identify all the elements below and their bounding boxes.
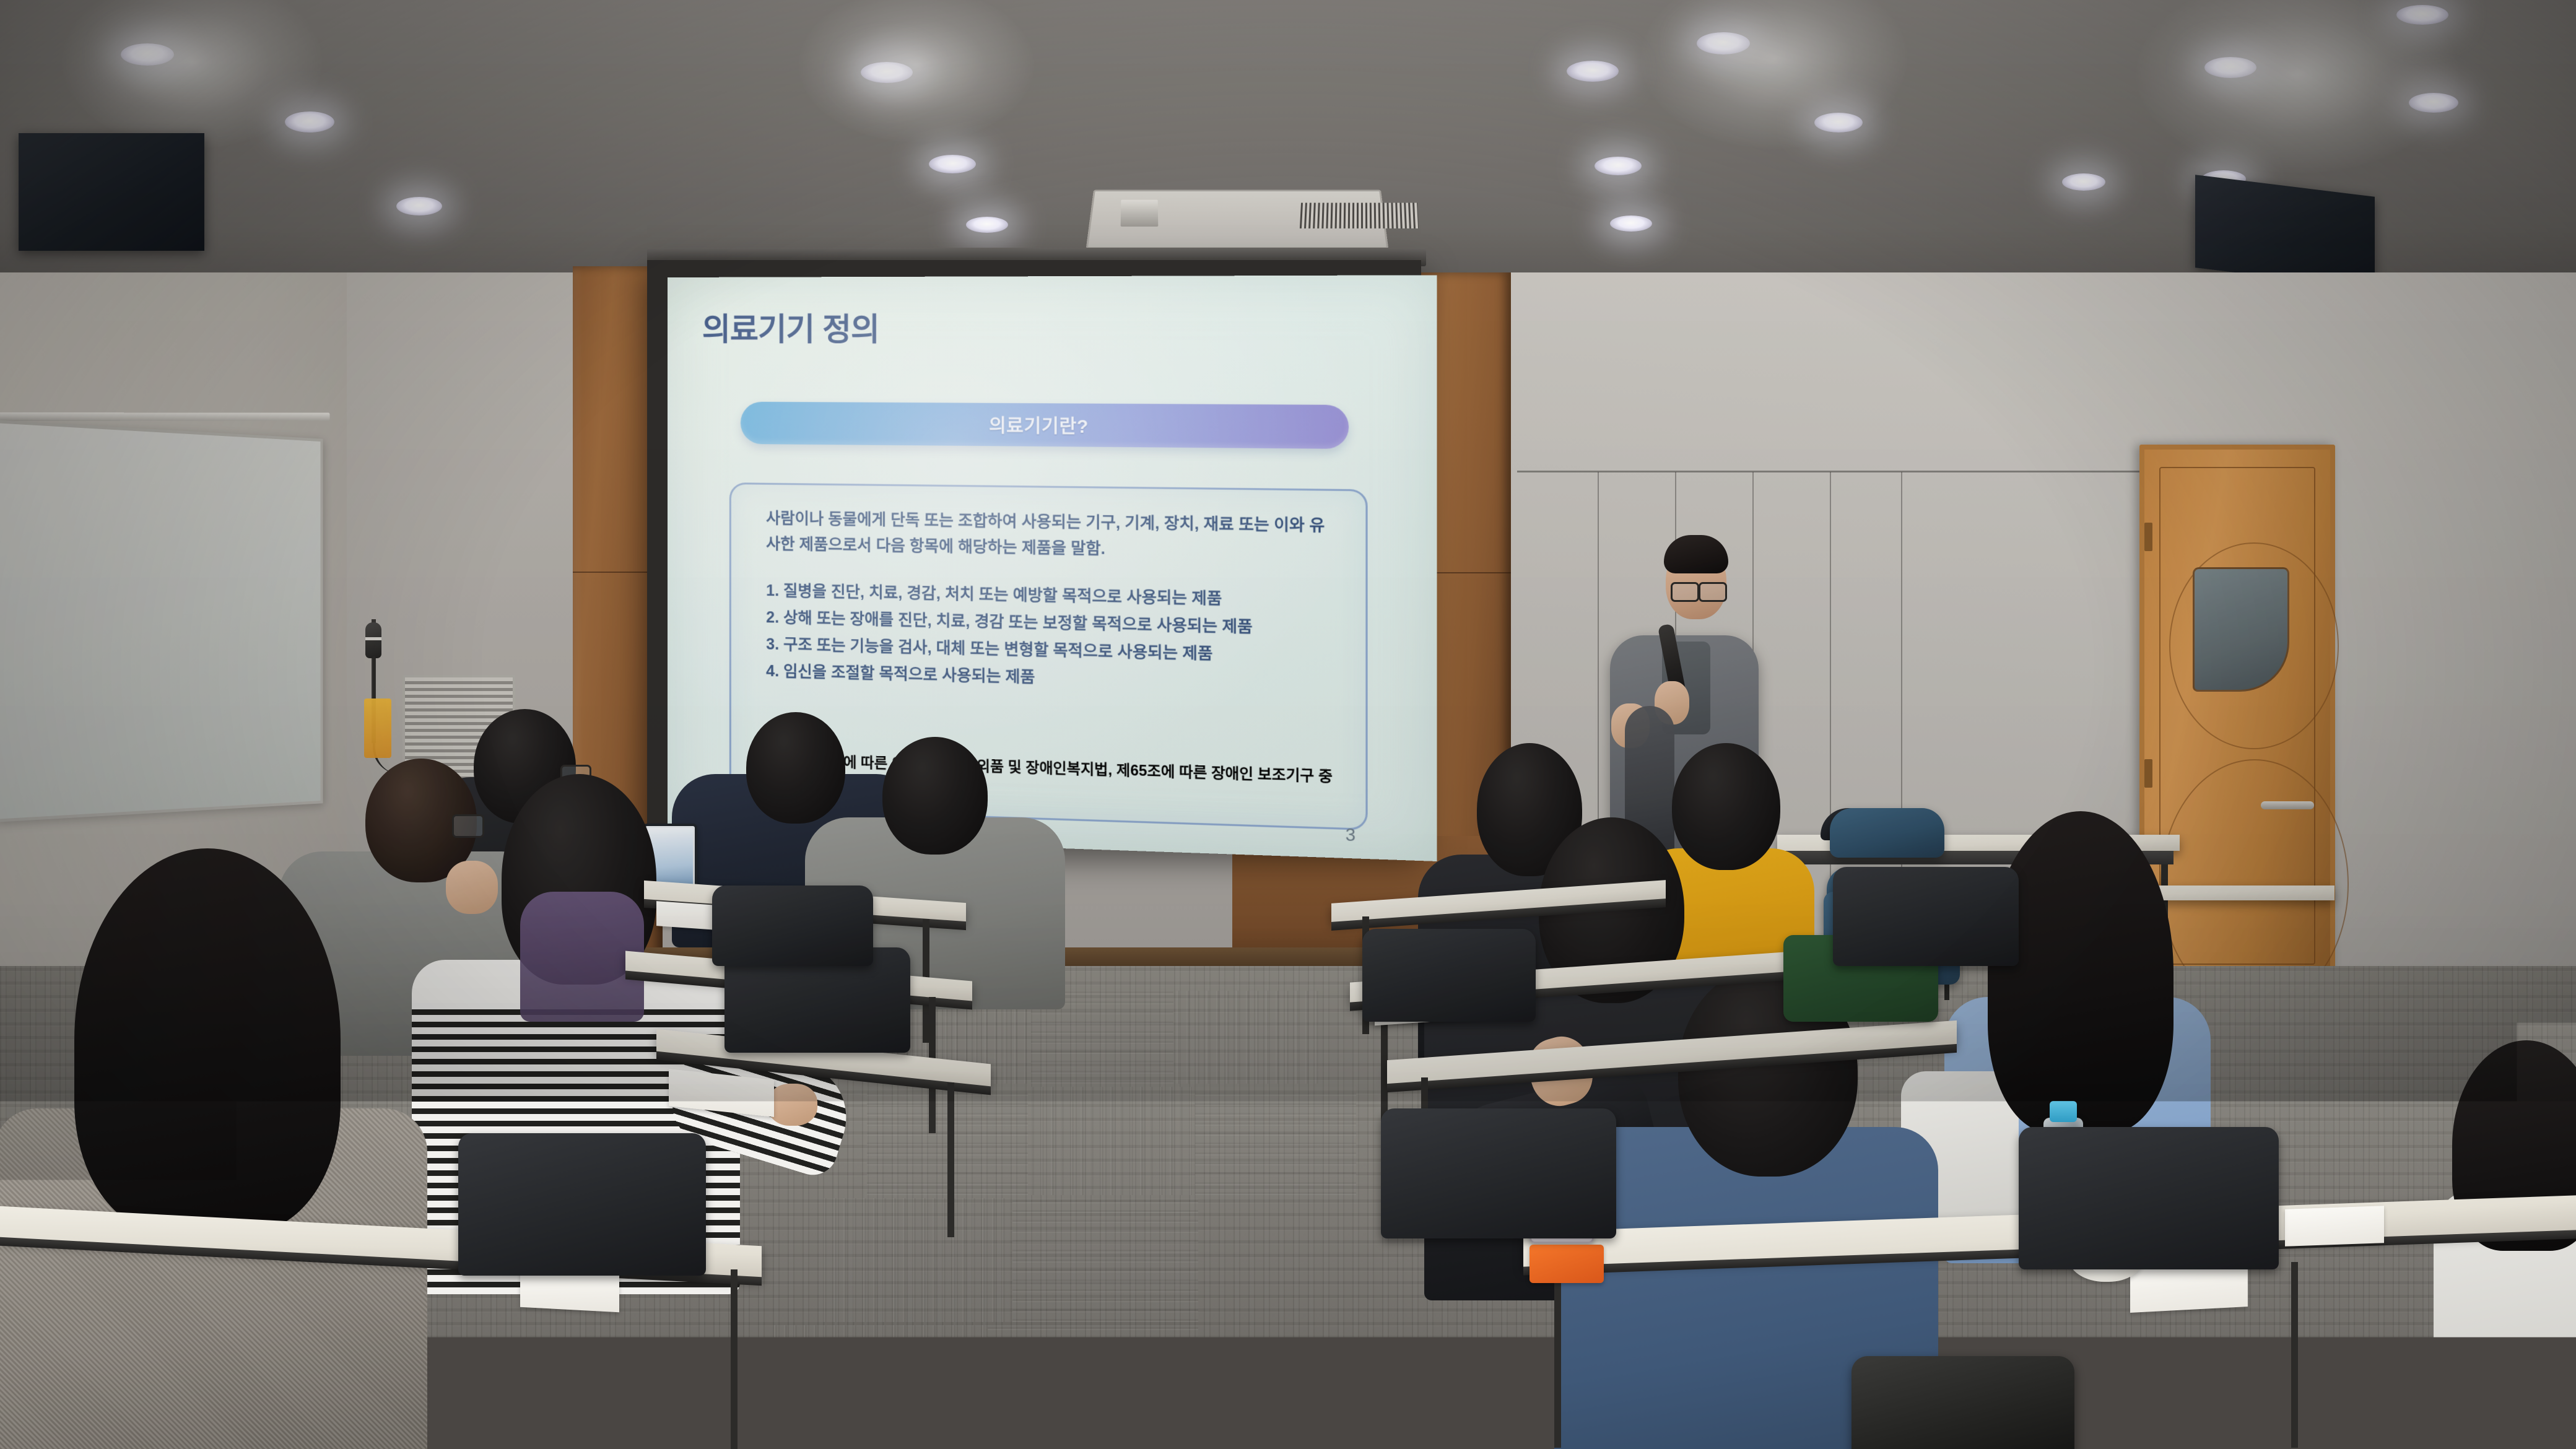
chair-dark[interactable] [1362, 929, 1536, 1022]
desk-leg [731, 1269, 738, 1449]
slide-page-number: 3 [1346, 825, 1355, 846]
desk-leg [2291, 1262, 2298, 1448]
presenter-hair [1664, 535, 1728, 573]
carpet-tile [1031, 1087, 1192, 1195]
carpet-tile [774, 1325, 985, 1449]
ceiling-light [1567, 61, 1619, 82]
seminar-room-photo: 의료기기 정의 의료기기란? 사람이나 동물에게 단독 또는 조합하여 사용되는… [0, 0, 2576, 1449]
presenter-glasses [1671, 582, 1699, 602]
ceiling-light [396, 197, 442, 215]
ceiling-light [1697, 32, 1750, 54]
whiteboard-rail [0, 412, 330, 421]
slide-lead-text: 사람이나 동물에게 단독 또는 조합하여 사용되는 기구, 기계, 장치, 재료… [766, 506, 1339, 565]
carpet-tile [1195, 1087, 1356, 1195]
whiteboard [0, 420, 323, 822]
air-conditioner-vane [1121, 200, 1159, 227]
bottle-cap[interactable] [2050, 1101, 2077, 1122]
attendee-head [746, 712, 845, 824]
chair-blue[interactable] [1830, 808, 1944, 858]
ceiling-light [929, 155, 976, 173]
slide-title: 의료기기 정의 [702, 305, 879, 350]
handout-paper [2285, 1206, 2384, 1247]
carpet-tile [824, 1198, 1009, 1322]
ceiling-light [2396, 5, 2448, 25]
attendee-hand [768, 1084, 817, 1126]
room-door[interactable] [2139, 445, 2335, 987]
chair-dark[interactable] [712, 885, 873, 966]
desk-leg [947, 1082, 954, 1237]
ceiling-light [1595, 157, 1642, 175]
attendee-head [1672, 743, 1780, 870]
chair-dark[interactable] [2019, 1127, 2279, 1269]
microphone-icon [365, 622, 381, 658]
backpack[interactable] [1851, 1356, 2074, 1449]
presenter-glasses [1699, 582, 1727, 602]
chair-dark[interactable] [458, 1133, 706, 1276]
door-hinge [2144, 759, 2152, 788]
door-hinge [2144, 523, 2152, 551]
ceiling-light [285, 111, 334, 133]
microphone-band [365, 637, 381, 640]
handout-paper [520, 1270, 619, 1312]
chair-dark[interactable] [1833, 867, 2019, 966]
slide-banner-label: 의료기기란? [989, 411, 1089, 438]
ceiling-light [2062, 173, 2105, 191]
air-conditioner-grille [1300, 203, 1419, 228]
attendee-hand [446, 861, 498, 914]
desk-leg [1554, 1262, 1561, 1448]
slide-numbered-list: 1. 질병을 진단, 치료, 경감, 처치 또는 예방할 목적으로 사용되는 제… [766, 578, 1339, 699]
attendee-hair [74, 848, 341, 1232]
carpet-tile [1177, 991, 1319, 1084]
carpet-tile [1012, 1198, 1198, 1322]
ceiling-light [1814, 113, 1863, 133]
ceiling-light [1610, 215, 1652, 232]
slide-banner: 의료기기란? [741, 402, 1349, 449]
chair-dark[interactable] [1381, 1108, 1616, 1238]
attendee-glasses [452, 814, 484, 838]
ceiling-light [2409, 93, 2458, 113]
wall-speaker-left [19, 133, 204, 251]
orange-pouch[interactable] [1529, 1245, 1604, 1283]
door-window [2193, 567, 2289, 692]
attendee-hair [1988, 811, 2173, 1133]
attendee-head [882, 737, 988, 855]
carpet-tile [988, 1325, 1198, 1449]
ceiling-light [861, 62, 913, 83]
ceiling-light [121, 43, 174, 66]
ceiling-light [2204, 57, 2256, 78]
yellow-object [364, 698, 391, 758]
ceiling-light [966, 217, 1008, 233]
door-handle[interactable] [2261, 801, 2314, 809]
